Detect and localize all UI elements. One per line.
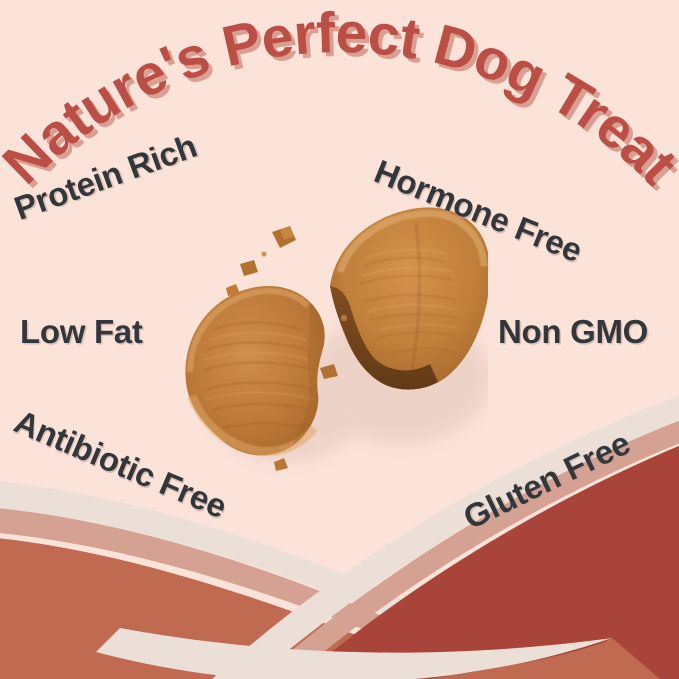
poster-canvas: Nature's Perfect Dog Treat Nature's Perf…: [0, 0, 679, 679]
broken-dog-treat-photo: [168, 196, 488, 486]
feature-label-low-fat: Low Fat: [20, 315, 143, 350]
feature-label-non-gmo: Non GMO: [498, 315, 648, 350]
treat-piece-lower: [185, 286, 324, 455]
